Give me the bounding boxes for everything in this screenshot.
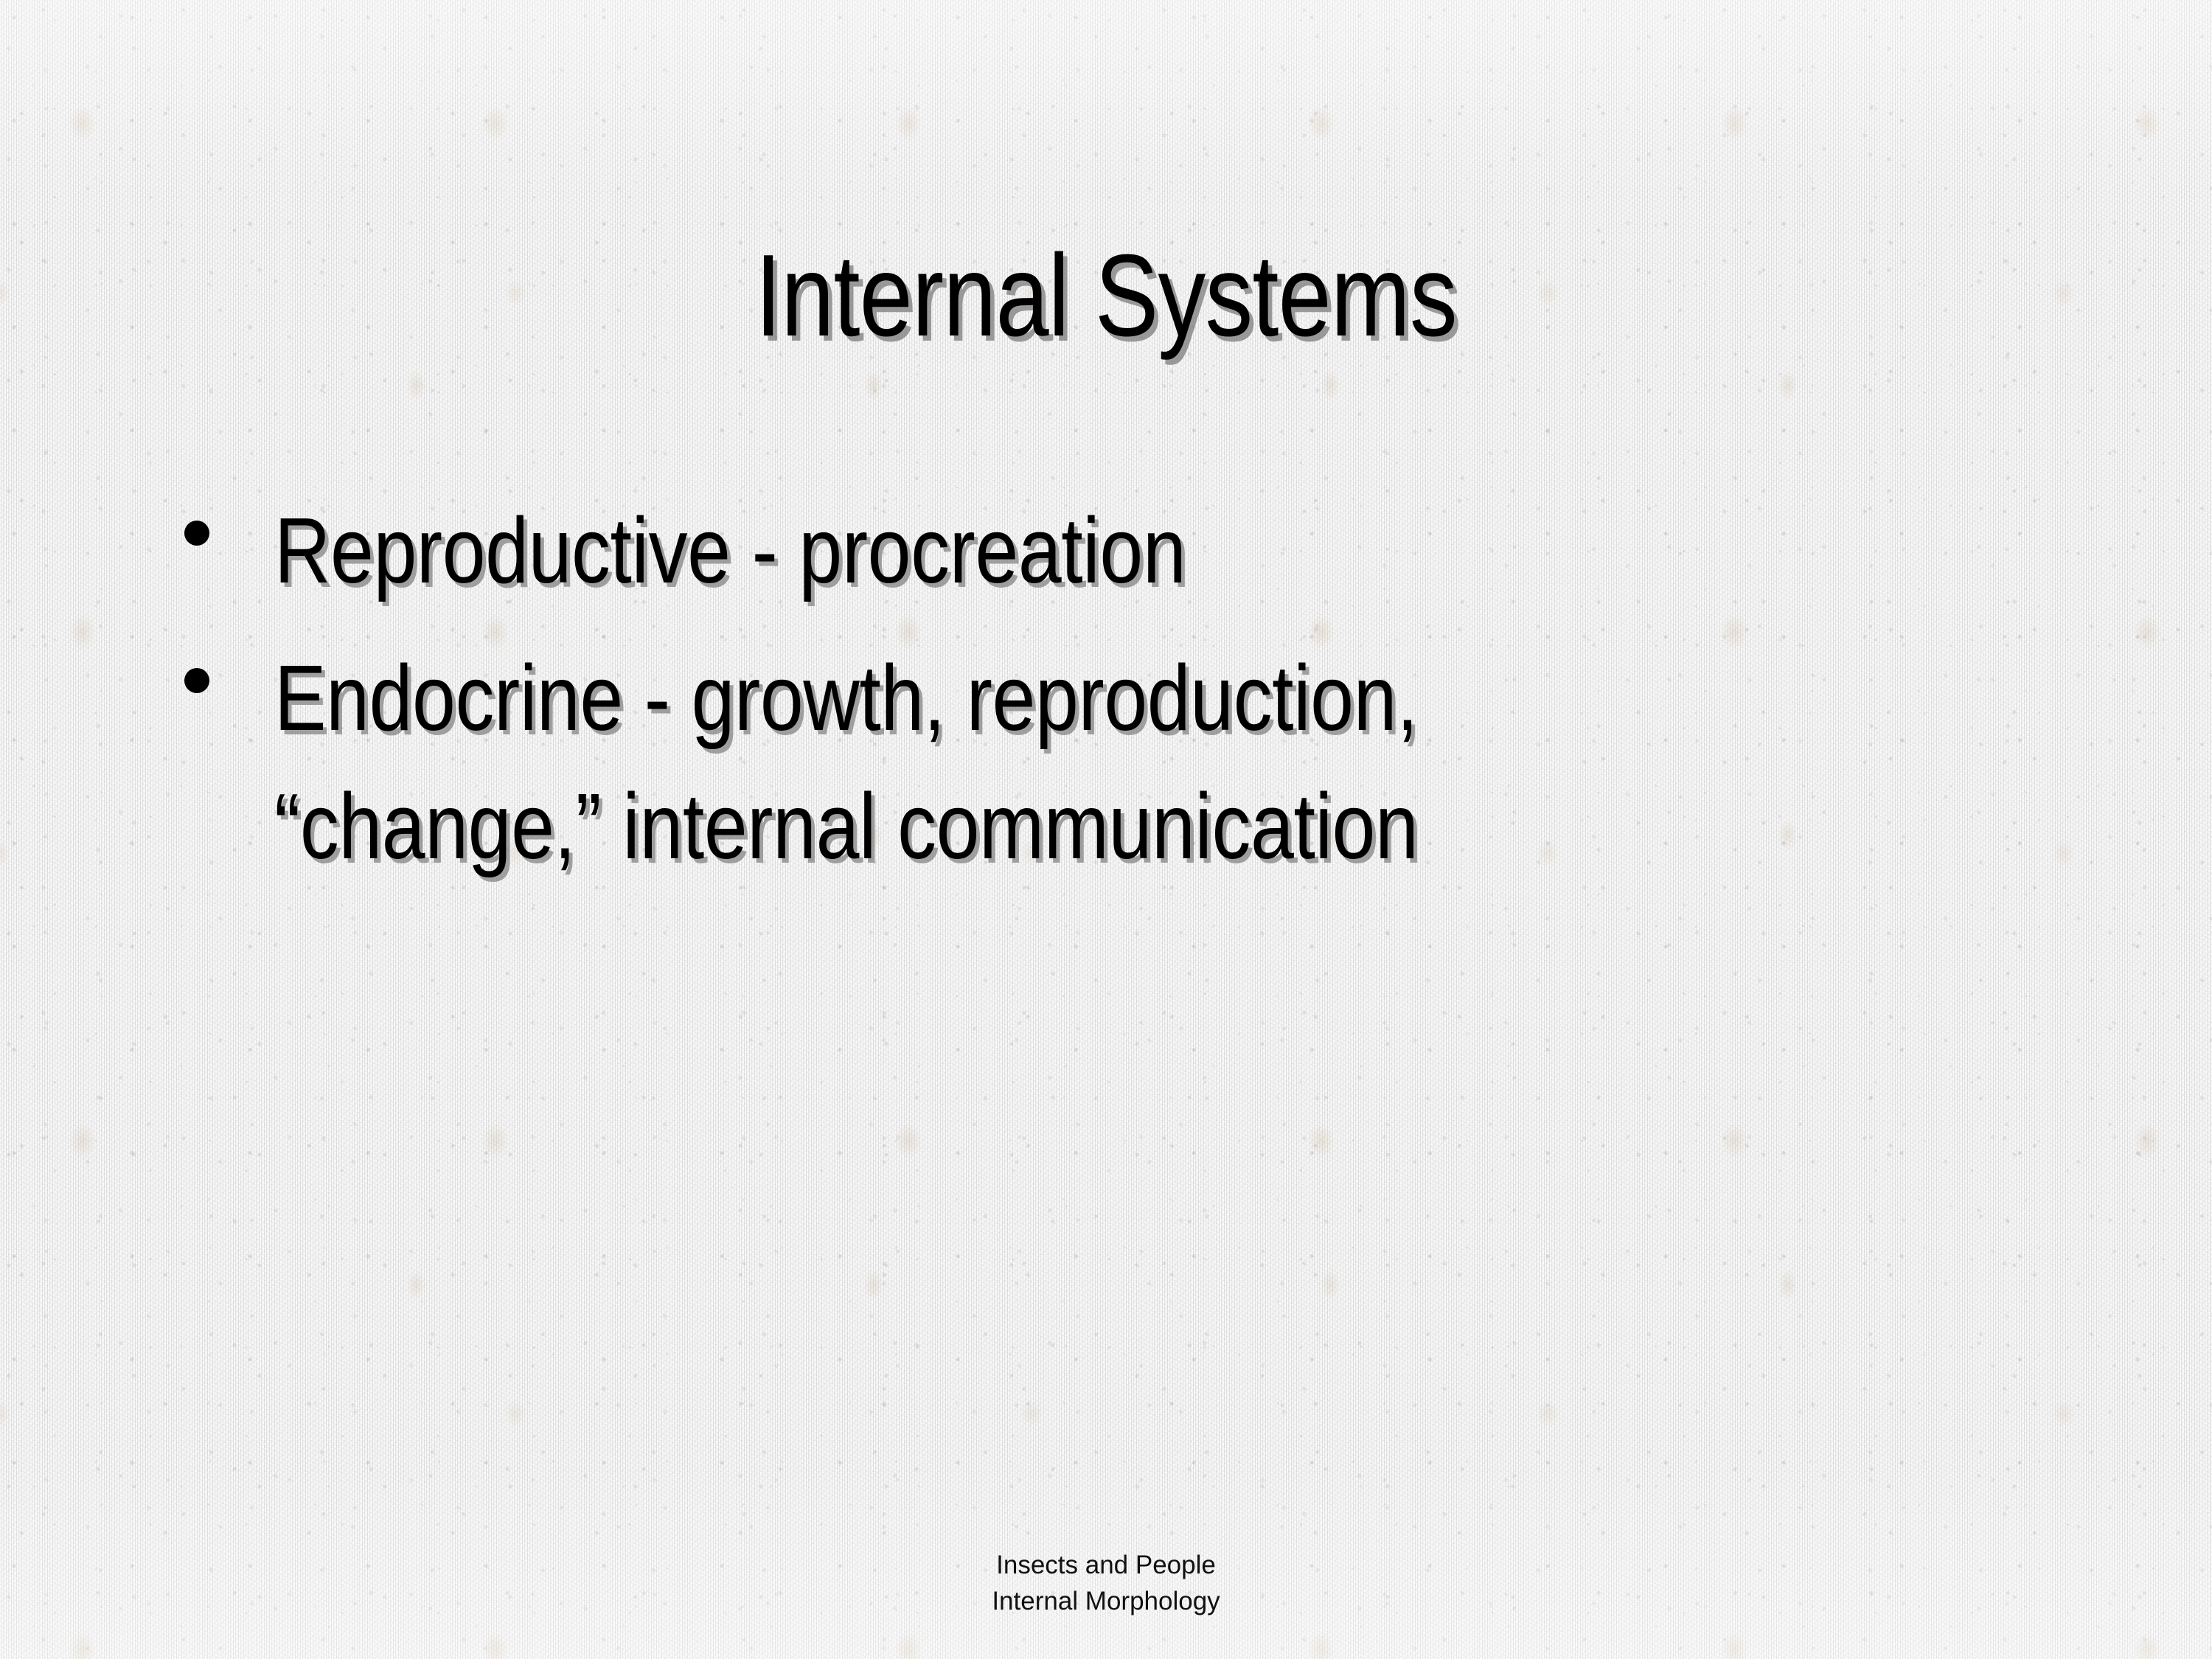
footer-topic-name: Internal Morphology [0,1584,2212,1619]
bullet-list: Reproductive - procreation Endocrine - g… [184,487,2013,910]
slide-title: Internal Systems [199,234,2013,358]
bullet-dot-icon [184,521,209,546]
bullet-item-text: Reproductive - procreation [274,487,1735,615]
bullet-item-text: Endocrine - growth, reproduction, “chang… [274,634,1735,891]
presentation-slide: Internal Systems Reproductive - procreat… [0,0,2212,1659]
list-item: Endocrine - growth, reproduction, “chang… [184,634,2013,891]
slide-footer: Insects and People Internal Morphology [0,1548,2212,1619]
list-item: Reproductive - procreation [184,487,2013,615]
footer-course-name: Insects and People [0,1548,2212,1583]
bullet-dot-icon [184,668,209,693]
slide-content: Internal Systems Reproductive - procreat… [0,0,2212,1659]
